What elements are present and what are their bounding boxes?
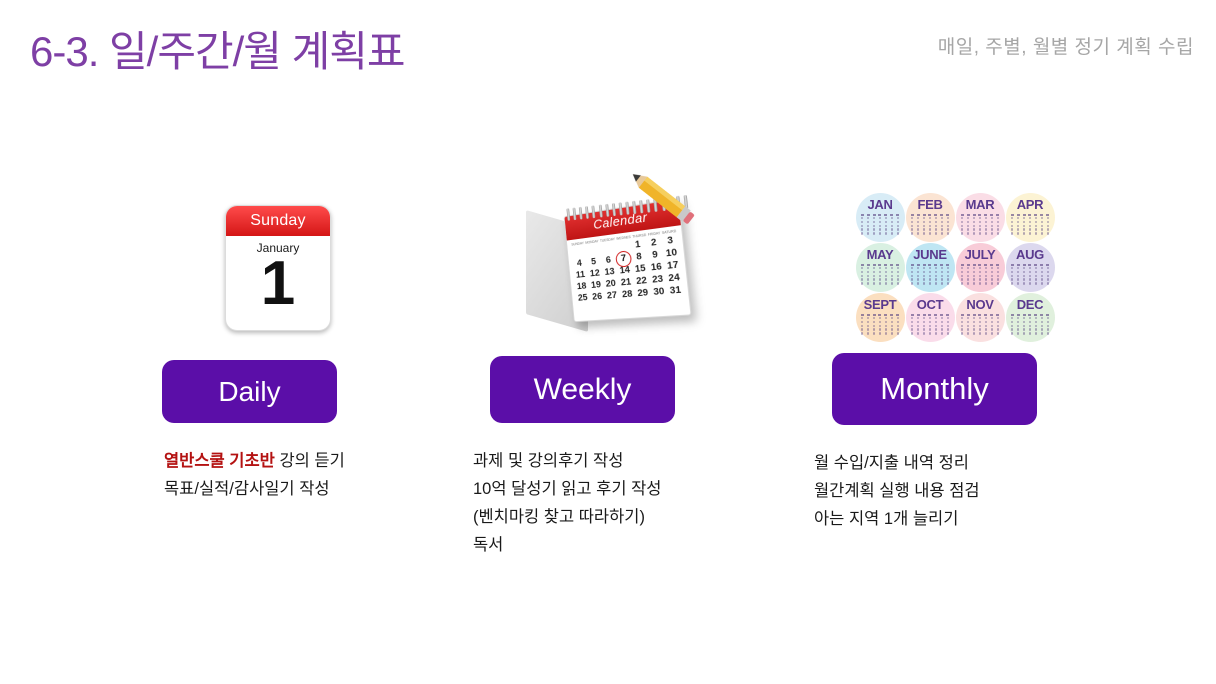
month-mini-grid-dot bbox=[885, 317, 887, 319]
month-mini-grid-row bbox=[961, 228, 999, 230]
month-mini-grid-dot bbox=[1035, 217, 1037, 219]
month-mini-grid-dot bbox=[1040, 264, 1043, 266]
month-mini-grid-dot bbox=[1035, 267, 1037, 269]
month-mini-grid-row bbox=[861, 314, 899, 316]
month-mini-grid-dot bbox=[867, 267, 869, 269]
desk-calendar-day-17: 17 bbox=[665, 259, 680, 272]
month-circle-oct: OCT bbox=[906, 293, 955, 342]
month-circle-jan: JAN bbox=[856, 193, 905, 242]
month-mini-grid-dot bbox=[867, 321, 869, 323]
month-mini-grid-dot bbox=[947, 332, 949, 334]
month-mini-grid-dot bbox=[1017, 325, 1019, 327]
monthly-line-3: 아는 지역 1개 늘리기 bbox=[814, 505, 1110, 533]
month-mini-grid-dot bbox=[961, 321, 963, 323]
month-mini-grid-dot bbox=[991, 282, 993, 284]
month-mini-grid-dot bbox=[891, 317, 893, 319]
month-mini-grid bbox=[861, 264, 899, 286]
month-mini-grid-dot bbox=[911, 275, 913, 277]
month-mini-grid-dot bbox=[879, 271, 881, 273]
month-circle-nov: NOV bbox=[956, 293, 1005, 342]
month-mini-grid-dot bbox=[1034, 264, 1037, 266]
month-mini-grid-dot bbox=[935, 267, 937, 269]
daily-highlight: 열반스쿨 기초반 bbox=[164, 452, 275, 470]
month-mini-grid-dot bbox=[879, 282, 881, 284]
month-mini-grid-dot bbox=[1017, 264, 1020, 266]
month-mini-grid-dot bbox=[923, 228, 925, 230]
month-mini-grid-dot bbox=[1041, 278, 1043, 280]
month-mini-grid-dot bbox=[897, 221, 899, 223]
month-mini-grid-row bbox=[961, 275, 999, 277]
month-mini-grid-dot bbox=[1023, 332, 1025, 334]
month-mini-grid-row bbox=[911, 332, 949, 334]
month-mini-grid-dot bbox=[973, 325, 975, 327]
month-mini-grid-dot bbox=[867, 228, 869, 230]
month-mini-grid-dot bbox=[923, 332, 925, 334]
month-mini-grid-row bbox=[961, 328, 999, 330]
month-mini-grid-dot bbox=[911, 314, 914, 316]
month-mini-grid-dot bbox=[996, 264, 999, 266]
month-mini-grid-dot bbox=[1029, 271, 1031, 273]
desk-calendar-day-27: 27 bbox=[605, 289, 618, 301]
month-mini-grid-dot bbox=[873, 228, 875, 230]
month-mini-grid-dot bbox=[891, 278, 893, 280]
month-mini-grid-dot bbox=[1035, 317, 1037, 319]
month-mini-grid-row bbox=[861, 217, 899, 219]
month-mini-grid-dot bbox=[897, 328, 899, 330]
month-mini-grid-dot bbox=[879, 221, 881, 223]
month-mini-grid-dot bbox=[967, 278, 969, 280]
month-mini-grid-dot bbox=[891, 228, 893, 230]
month-mini-grid-dot bbox=[917, 332, 919, 334]
month-mini-grid-dot bbox=[917, 317, 919, 319]
month-mini-grid-dot bbox=[1023, 321, 1025, 323]
month-mini-grid-dot bbox=[917, 321, 919, 323]
month-mini-grid-row bbox=[861, 232, 899, 234]
month-mini-grid-dot bbox=[923, 225, 925, 227]
month-mini-grid-dot bbox=[973, 264, 976, 266]
month-mini-grid-dot bbox=[947, 232, 949, 234]
month-mini-grid-dot bbox=[929, 328, 931, 330]
month-mini-grid-row bbox=[961, 332, 999, 334]
month-mini-grid-dot bbox=[1017, 332, 1019, 334]
month-mini-grid-dot bbox=[891, 332, 893, 334]
month-mini-grid-dot bbox=[917, 267, 919, 269]
month-mini-grid-dot bbox=[997, 221, 999, 223]
month-mini-grid-row bbox=[911, 267, 949, 269]
month-circle-july: JULY bbox=[956, 243, 1005, 292]
month-mini-grid-dot bbox=[934, 264, 937, 266]
month-mini-grid-dot bbox=[941, 278, 943, 280]
month-mini-grid-dot bbox=[867, 325, 869, 327]
month-mini-grid-dot bbox=[885, 328, 887, 330]
month-mini-grid-dot bbox=[978, 314, 981, 316]
month-mini-grid-dot bbox=[911, 271, 913, 273]
month-mini-grid-row bbox=[1011, 232, 1049, 234]
month-mini-grid-dot bbox=[1047, 278, 1049, 280]
month-mini-grid-dot bbox=[973, 271, 975, 273]
month-mini-grid-dot bbox=[990, 214, 993, 216]
month-mini-grid-dot bbox=[911, 232, 913, 234]
month-mini-grid-dot bbox=[935, 317, 937, 319]
month-mini-grid-dot bbox=[979, 267, 981, 269]
month-mini-grid-dot bbox=[891, 282, 893, 284]
month-mini-grid-dot bbox=[879, 228, 881, 230]
month-mini-grid-dot bbox=[917, 278, 919, 280]
month-mini-grid-dot bbox=[867, 332, 869, 334]
desk-calendar-day-18: 18 bbox=[575, 280, 588, 292]
monthly-icon-area: JANFEBMARAPRMAYJUNEJULYAUGSEPTOCTNOVDEC bbox=[800, 185, 1110, 350]
daily-button[interactable]: Daily bbox=[162, 360, 337, 423]
month-mini-grid-dot bbox=[967, 314, 970, 316]
desk-calendar-day-4: 4 bbox=[573, 257, 586, 269]
month-mini-grid-dot bbox=[929, 325, 931, 327]
month-mini-grid-row bbox=[961, 217, 999, 219]
month-mini-grid-dot bbox=[885, 278, 887, 280]
month-mini-grid-dot bbox=[897, 232, 899, 234]
month-mini-grid-dot bbox=[861, 221, 863, 223]
month-mini-grid-dot bbox=[967, 267, 969, 269]
month-mini-grid-dot bbox=[935, 271, 937, 273]
month-mini-grid-dot bbox=[879, 278, 881, 280]
monthly-line-2: 월간계획 실행 내용 점검 bbox=[814, 477, 1110, 505]
daily-line-2: 목표/실적/감사일기 작성 bbox=[164, 475, 428, 503]
month-mini-grid-dot bbox=[935, 332, 937, 334]
month-mini-grid-dot bbox=[878, 314, 881, 316]
month-mini-grid-row bbox=[911, 278, 949, 280]
month-mini-grid-row bbox=[961, 278, 999, 280]
month-mini-grid-dot bbox=[1011, 267, 1013, 269]
month-mini-grid-row bbox=[1011, 332, 1049, 334]
month-mini-grid-row bbox=[1011, 314, 1049, 316]
month-mini-grid-dot bbox=[985, 282, 987, 284]
month-mini-grid-row bbox=[1011, 317, 1049, 319]
month-mini-grid-dot bbox=[867, 225, 869, 227]
month-mini-grid-dot bbox=[929, 278, 931, 280]
month-mini-grid-dot bbox=[873, 317, 875, 319]
desk-calendar-day-22: 22 bbox=[634, 274, 648, 286]
weekly-line-3: (벤치마킹 찾고 따라하기) bbox=[473, 503, 755, 531]
month-mini-grid-dot bbox=[897, 267, 899, 269]
weekly-text-block: 과제 및 강의후기 작성 10억 달성기 읽고 후기 작성 (벤치마킹 찾고 따… bbox=[473, 447, 755, 559]
month-mini-grid-row bbox=[861, 321, 899, 323]
month-mini-grid-dot bbox=[1011, 225, 1013, 227]
month-mini-grid-dot bbox=[1029, 321, 1031, 323]
month-mini-grid-row bbox=[861, 225, 899, 227]
month-label: SEPT bbox=[864, 298, 897, 311]
month-mini-grid-dot bbox=[1047, 232, 1049, 234]
month-mini-grid-dot bbox=[867, 232, 869, 234]
month-mini-grid-row bbox=[911, 264, 949, 266]
month-mini-grid-dot bbox=[861, 217, 863, 219]
month-mini-grid-row bbox=[1011, 228, 1049, 230]
month-label: JAN bbox=[867, 198, 892, 211]
month-mini-grid-dot bbox=[861, 264, 864, 266]
month-mini-grid-dot bbox=[879, 232, 881, 234]
month-mini-grid-row bbox=[1011, 271, 1049, 273]
month-mini-grid-dot bbox=[967, 275, 969, 277]
month-mini-grid-dot bbox=[911, 325, 913, 327]
month-mini-grid-row bbox=[911, 282, 949, 284]
month-mini-grid-dot bbox=[1011, 314, 1014, 316]
month-mini-grid-dot bbox=[861, 275, 863, 277]
month-mini-grid-row bbox=[861, 325, 899, 327]
month-mini-grid-dot bbox=[929, 275, 931, 277]
month-mini-grid bbox=[1011, 314, 1049, 336]
month-mini-grid-dot bbox=[861, 328, 863, 330]
month-mini-grid-dot bbox=[1017, 214, 1020, 216]
month-mini-grid-dot bbox=[867, 282, 869, 284]
month-mini-grid-dot bbox=[941, 275, 943, 277]
month-mini-grid-dot bbox=[990, 264, 993, 266]
month-label: JUNE bbox=[913, 248, 946, 261]
month-mini-grid-dot bbox=[1028, 264, 1031, 266]
month-mini-grid-dot bbox=[929, 317, 931, 319]
month-mini-grid-dot bbox=[961, 217, 963, 219]
month-mini-grid-dot bbox=[985, 321, 987, 323]
month-mini-grid-row bbox=[961, 317, 999, 319]
month-mini-grid-row bbox=[1011, 321, 1049, 323]
month-mini-grid-dot bbox=[1047, 282, 1049, 284]
month-mini-grid-dot bbox=[991, 317, 993, 319]
month-mini-grid-dot bbox=[879, 225, 881, 227]
month-mini-grid-dot bbox=[991, 225, 993, 227]
month-mini-grid-dot bbox=[947, 267, 949, 269]
month-label: MAY bbox=[867, 248, 894, 261]
month-mini-grid-dot bbox=[1029, 267, 1031, 269]
month-mini-grid-dot bbox=[911, 282, 913, 284]
monthly-button[interactable]: Monthly bbox=[832, 353, 1037, 425]
month-mini-grid-dot bbox=[891, 225, 893, 227]
month-mini-grid-dot bbox=[985, 328, 987, 330]
month-mini-grid-row bbox=[861, 278, 899, 280]
month-mini-grid-dot bbox=[935, 217, 937, 219]
month-mini-grid-dot bbox=[941, 271, 943, 273]
month-mini-grid-dot bbox=[967, 328, 969, 330]
month-mini-grid-dot bbox=[891, 221, 893, 223]
month-mini-grid-dot bbox=[1047, 228, 1049, 230]
month-mini-grid-row bbox=[1011, 264, 1049, 266]
month-mini-grid-dot bbox=[917, 314, 920, 316]
month-mini-grid-dot bbox=[873, 282, 875, 284]
month-mini-grid-row bbox=[911, 221, 949, 223]
month-mini-grid-dot bbox=[879, 275, 881, 277]
desk-calendar-day-15: 15 bbox=[633, 262, 647, 274]
month-mini-grid-dot bbox=[861, 325, 863, 327]
month-mini-grid-row bbox=[961, 271, 999, 273]
month-mini-grid-dot bbox=[1047, 271, 1049, 273]
month-mini-grid-dot bbox=[1017, 232, 1019, 234]
month-mini-grid-dot bbox=[917, 282, 919, 284]
month-mini-grid-dot bbox=[923, 267, 925, 269]
month-mini-grid-dot bbox=[935, 275, 937, 277]
month-mini-grid-dot bbox=[967, 225, 969, 227]
desk-calendar-day-8: 8 bbox=[632, 250, 646, 263]
month-mini-grid-dot bbox=[1023, 278, 1025, 280]
month-mini-grid-dot bbox=[1023, 271, 1025, 273]
month-mini-grid-dot bbox=[961, 275, 963, 277]
month-mini-grid-dot bbox=[967, 321, 969, 323]
month-mini-grid-dot bbox=[941, 321, 943, 323]
month-mini-grid-dot bbox=[917, 228, 919, 230]
month-mini-grid-dot bbox=[1023, 217, 1025, 219]
month-mini-grid-dot bbox=[1017, 314, 1020, 316]
month-mini-grid-dot bbox=[911, 332, 913, 334]
month-mini-grid-dot bbox=[1011, 325, 1013, 327]
month-mini-grid-dot bbox=[1023, 214, 1026, 216]
month-mini-grid-dot bbox=[941, 317, 943, 319]
month-mini-grid-dot bbox=[1035, 228, 1037, 230]
month-mini-grid-dot bbox=[967, 228, 969, 230]
month-mini-grid-dot bbox=[940, 264, 943, 266]
month-mini-grid-dot bbox=[1029, 228, 1031, 230]
month-mini-grid-dot bbox=[1047, 328, 1049, 330]
month-mini-grid-dot bbox=[885, 228, 887, 230]
month-mini-grid-dot bbox=[979, 328, 981, 330]
month-mini-grid-dot bbox=[997, 332, 999, 334]
month-mini-grid-dot bbox=[885, 275, 887, 277]
month-mini-grid-dot bbox=[923, 271, 925, 273]
month-mini-grid-dot bbox=[990, 314, 993, 316]
month-mini-grid-dot bbox=[1029, 232, 1031, 234]
month-mini-grid-dot bbox=[973, 314, 976, 316]
month-mini-grid-dot bbox=[917, 225, 919, 227]
month-mini-grid-dot bbox=[1011, 228, 1013, 230]
month-mini-grid-dot bbox=[973, 282, 975, 284]
month-mini-grid-dot bbox=[929, 221, 931, 223]
month-mini-grid-dot bbox=[879, 267, 881, 269]
month-mini-grid-dot bbox=[867, 278, 869, 280]
month-mini-grid-dot bbox=[1029, 221, 1031, 223]
desk-calendar-empty-cell: 0 bbox=[600, 242, 613, 254]
month-mini-grid-dot bbox=[873, 321, 875, 323]
month-mini-grid-dot bbox=[991, 325, 993, 327]
month-mini-grid-dot bbox=[885, 271, 887, 273]
month-circle-feb: FEB bbox=[906, 193, 955, 242]
month-mini-grid-dot bbox=[891, 325, 893, 327]
month-mini-grid-dot bbox=[897, 321, 899, 323]
month-mini-grid-dot bbox=[973, 214, 976, 216]
month-mini-grid-dot bbox=[935, 328, 937, 330]
month-mini-grid-dot bbox=[885, 217, 887, 219]
month-mini-grid-dot bbox=[929, 271, 931, 273]
month-mini-grid-dot bbox=[1011, 271, 1013, 273]
month-mini-grid-dot bbox=[861, 278, 863, 280]
month-mini-grid-dot bbox=[973, 328, 975, 330]
month-mini-grid-dot bbox=[867, 317, 869, 319]
month-mini-grid-dot bbox=[873, 264, 876, 266]
desk-calendar-day-6: 6 bbox=[601, 254, 614, 266]
weekly-button[interactable]: Weekly bbox=[490, 356, 675, 423]
month-mini-grid-row bbox=[911, 275, 949, 277]
month-mini-grid-dot bbox=[973, 317, 975, 319]
month-mini-grid-dot bbox=[873, 225, 875, 227]
month-mini-grid-dot bbox=[997, 328, 999, 330]
month-mini-grid-dot bbox=[1023, 282, 1025, 284]
month-mini-grid-dot bbox=[1011, 328, 1013, 330]
month-mini-grid-dot bbox=[928, 214, 931, 216]
month-mini-grid-row bbox=[861, 282, 899, 284]
month-mini-grid-dot bbox=[984, 214, 987, 216]
month-mini-grid-dot bbox=[1041, 221, 1043, 223]
month-mini-grid-dot bbox=[1035, 332, 1037, 334]
month-mini-grid-dot bbox=[884, 214, 887, 216]
desk-calendar-day-25: 25 bbox=[576, 292, 589, 304]
month-mini-grid-dot bbox=[917, 217, 919, 219]
month-mini-grid-row bbox=[911, 217, 949, 219]
month-mini-grid-dot bbox=[997, 278, 999, 280]
desk-calendar-day-5: 5 bbox=[587, 255, 600, 267]
month-mini-grid-dot bbox=[873, 325, 875, 327]
month-mini-grid-dot bbox=[1011, 232, 1013, 234]
month-mini-grid-dot bbox=[1017, 271, 1019, 273]
month-mini-grid-dot bbox=[911, 221, 913, 223]
month-mini-grid-row bbox=[911, 317, 949, 319]
month-mini-grid-dot bbox=[1029, 282, 1031, 284]
month-mini-grid-dot bbox=[917, 325, 919, 327]
month-mini-grid-dot bbox=[897, 225, 899, 227]
desk-calendar-day-20: 20 bbox=[604, 277, 617, 289]
month-mini-grid-dot bbox=[1035, 278, 1037, 280]
month-mini-grid-dot bbox=[873, 232, 875, 234]
month-mini-grid-dot bbox=[923, 264, 926, 266]
month-mini-grid-dot bbox=[1047, 221, 1049, 223]
month-mini-grid-dot bbox=[897, 317, 899, 319]
desk-calendar-day-26: 26 bbox=[590, 290, 603, 302]
month-mini-grid-dot bbox=[873, 275, 875, 277]
month-mini-grid-dot bbox=[879, 321, 881, 323]
month-mini-grid-dot bbox=[967, 214, 970, 216]
desk-calendar-day-1: 1 bbox=[630, 238, 644, 251]
month-mini-grid-dot bbox=[935, 228, 937, 230]
month-mini-grid-dot bbox=[979, 271, 981, 273]
desk-calendar-empty-cell: 0 bbox=[571, 246, 584, 258]
month-mini-grid-row bbox=[861, 214, 899, 216]
month-mini-grid-row bbox=[911, 325, 949, 327]
month-mini-grid-dot bbox=[1035, 221, 1037, 223]
month-mini-grid-row bbox=[911, 225, 949, 227]
month-mini-grid-dot bbox=[991, 278, 993, 280]
month-mini-grid-dot bbox=[941, 228, 943, 230]
month-mini-grid-dot bbox=[1029, 328, 1031, 330]
month-mini-grid-dot bbox=[1041, 232, 1043, 234]
month-mini-grid-dot bbox=[1047, 317, 1049, 319]
month-mini-grid-dot bbox=[885, 221, 887, 223]
month-mini-grid-row bbox=[911, 228, 949, 230]
monthly-line-1: 월 수입/지출 내역 정리 bbox=[814, 449, 1110, 477]
month-mini-grid-dot bbox=[941, 328, 943, 330]
month-circle-aug: AUG bbox=[1006, 243, 1055, 292]
month-mini-grid bbox=[1011, 214, 1049, 236]
month-mini-grid-dot bbox=[1023, 267, 1025, 269]
month-mini-grid-dot bbox=[1035, 275, 1037, 277]
month-mini-grid-row bbox=[861, 332, 899, 334]
month-mini-grid-dot bbox=[867, 214, 870, 216]
month-mini-grid-dot bbox=[873, 271, 875, 273]
month-mini-grid-dot bbox=[946, 214, 949, 216]
twelve-month-calendar-circles-icon: JANFEBMARAPRMAYJUNEJULYAUGSEPTOCTNOVDEC bbox=[856, 193, 1055, 342]
month-mini-grid-dot bbox=[885, 232, 887, 234]
column-daily: Sunday January 1 Daily 열반스쿨 기초반 강의 듣기 목표… bbox=[128, 185, 428, 503]
month-mini-grid-dot bbox=[879, 217, 881, 219]
month-mini-grid-dot bbox=[896, 214, 899, 216]
desk-calendar-day-29: 29 bbox=[635, 287, 649, 299]
month-mini-grid-dot bbox=[935, 221, 937, 223]
month-mini-grid-row bbox=[1011, 221, 1049, 223]
month-mini-grid-row bbox=[861, 317, 899, 319]
page-subtitle: 매일, 주별, 월별 정기 계획 수립 bbox=[938, 32, 1194, 59]
month-mini-grid-dot bbox=[1017, 321, 1019, 323]
month-mini-grid-dot bbox=[891, 271, 893, 273]
